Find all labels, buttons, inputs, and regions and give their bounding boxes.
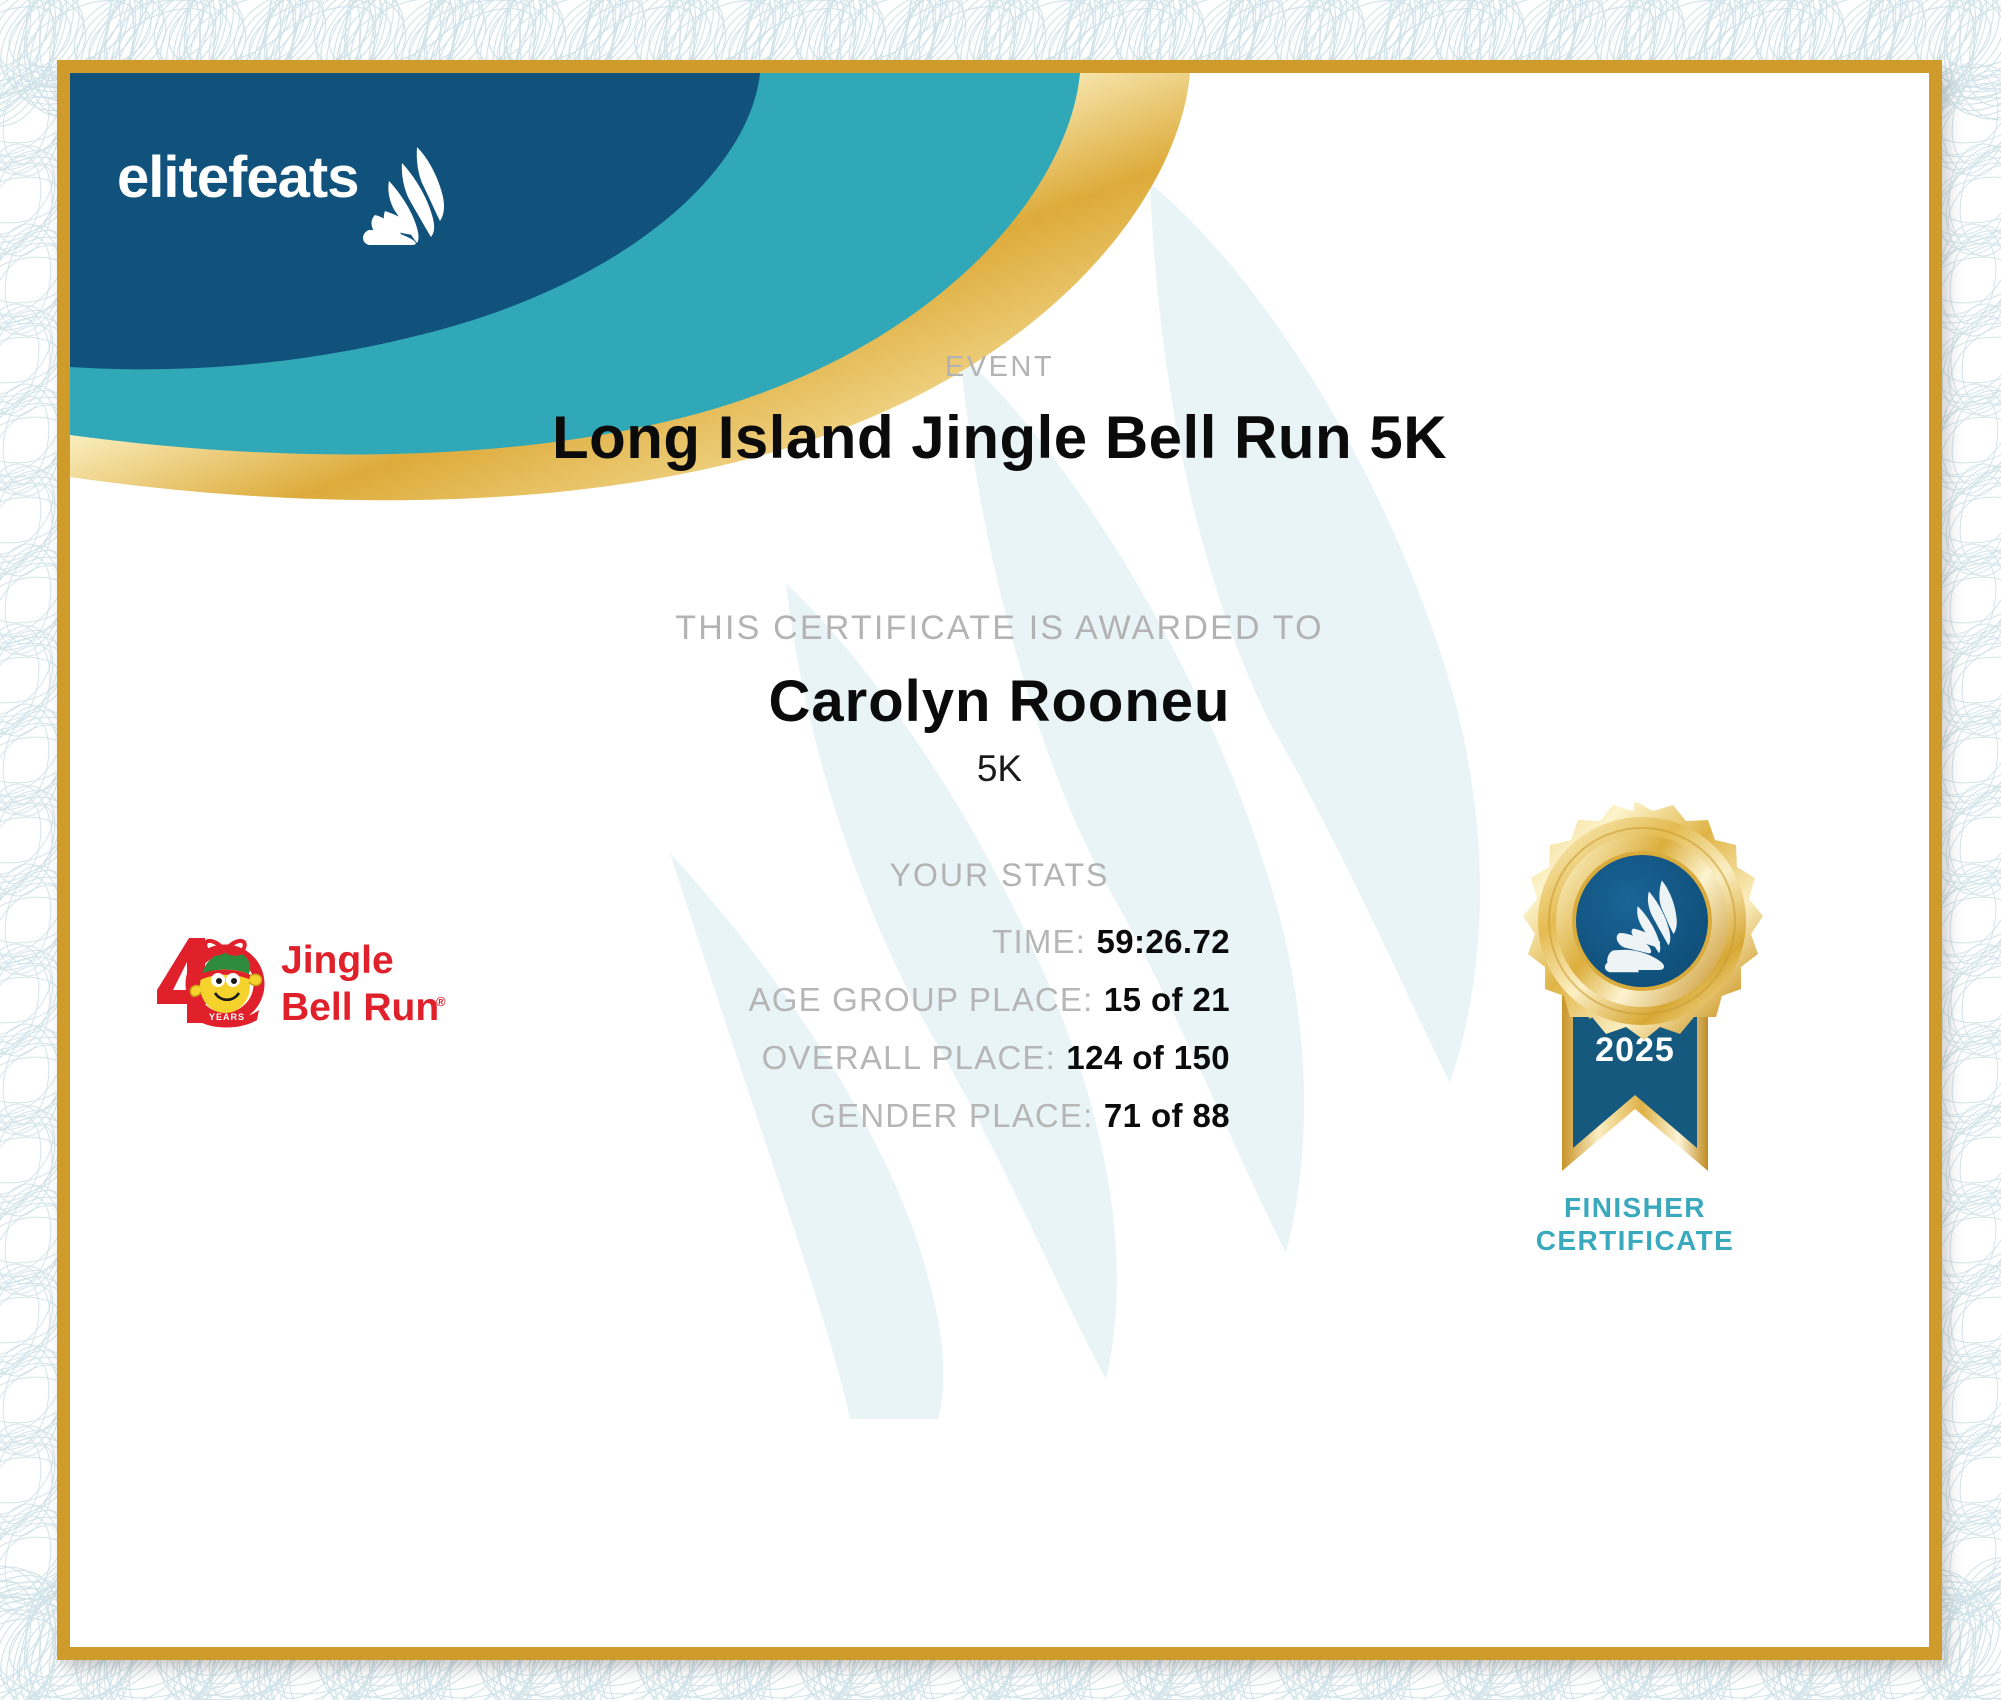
recipient-name: Carolyn Rooneu	[70, 668, 1929, 735]
awarded-to-label: THIS CERTIFICATE IS AWARDED TO	[70, 609, 1929, 648]
jbr-line2-text: Bell Run	[281, 986, 439, 1029]
stat-value-age-group-place: 15 of 21	[1104, 981, 1230, 1018]
stat-label-gender-place: GENDER PLACE:	[810, 1097, 1093, 1134]
certificate-inner: elitefeats EVENT Long Island Jingle Bell…	[70, 73, 1929, 1647]
jbr-trademark-text: ®	[436, 994, 446, 1009]
stat-label-overall-place: OVERALL PLACE:	[762, 1039, 1056, 1076]
certificate-content: EVENT Long Island Jingle Bell Run 5K THI…	[70, 73, 1929, 1647]
recipient-distance: 5K	[70, 748, 1929, 790]
finisher-caption: FINISHER CERTIFICATE	[1470, 1191, 1800, 1257]
stat-row-overall-place: OVERALL PLACE: 124 of 150	[70, 1041, 1230, 1074]
stat-value-time: 59:26.72	[1097, 923, 1230, 960]
stat-value-gender-place: 71 of 88	[1104, 1097, 1230, 1134]
stat-value-overall-place: 124 of 150	[1066, 1039, 1230, 1076]
jbr-years-text: YEARS	[209, 1012, 245, 1022]
event-title: Long Island Jingle Bell Run 5K	[70, 403, 1929, 472]
jingle-bell-run-logo: YEARS Jingle Bell Run ®	[153, 928, 453, 1038]
stat-label-time: TIME:	[992, 923, 1086, 960]
stat-row-gender-place: GENDER PLACE: 71 of 88	[70, 1099, 1230, 1132]
finisher-badge: 2025	[1470, 793, 1800, 1273]
certificate-card: elitefeats EVENT Long Island Jingle Bell…	[57, 60, 1942, 1660]
finisher-caption-line1: FINISHER	[1470, 1191, 1800, 1224]
event-label: EVENT	[70, 351, 1929, 384]
jbr-line1-text: Jingle	[281, 939, 394, 982]
finisher-caption-line2: CERTIFICATE	[1470, 1224, 1800, 1257]
stat-label-age-group-place: AGE GROUP PLACE:	[748, 981, 1093, 1018]
badge-year-text: 2025	[1595, 1031, 1675, 1069]
gold-medal-with-ribbon-icon: 2025	[1470, 793, 1800, 1203]
certificate-page: elitefeats EVENT Long Island Jingle Bell…	[0, 0, 2001, 1700]
